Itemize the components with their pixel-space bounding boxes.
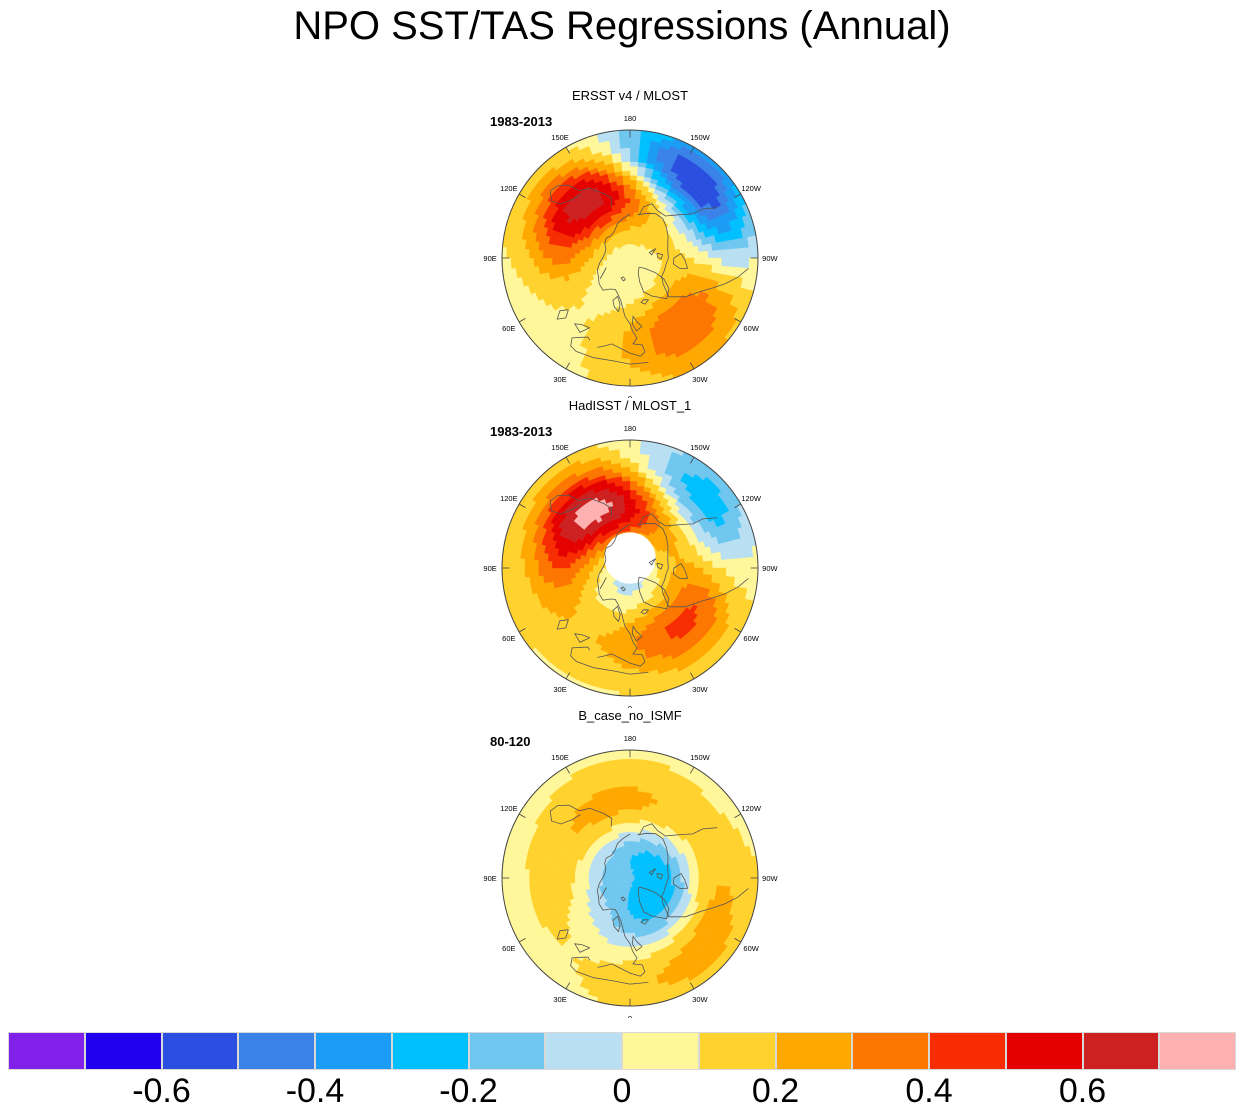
field-cell	[620, 449, 630, 454]
field-cell	[548, 878, 553, 885]
field-cell	[571, 263, 576, 269]
field-cell	[707, 871, 712, 878]
field-cell	[529, 559, 534, 568]
field-cell	[622, 782, 630, 787]
field-cell	[630, 522, 634, 527]
field-cell	[721, 258, 726, 266]
field-cell	[575, 563, 580, 568]
lon-label-150E: 150E	[551, 443, 569, 452]
field-cell	[622, 481, 630, 486]
figure-root: NPO SST/TAS Regressions (Annual) ERSST v…	[0, 0, 1244, 1116]
field-cell	[630, 472, 638, 477]
field-cell	[622, 655, 630, 660]
field-cell	[525, 878, 530, 887]
field-cell	[630, 495, 636, 500]
field-cell	[619, 135, 630, 140]
field-cell	[623, 335, 630, 340]
field-cell	[630, 518, 634, 523]
field-cell	[624, 194, 630, 199]
field-cell	[584, 564, 589, 568]
lon-label-60E: 60E	[502, 324, 515, 333]
field-cell	[630, 367, 640, 372]
field-cell	[726, 878, 731, 887]
field-cell	[739, 568, 744, 578]
field-cell	[626, 294, 630, 299]
field-cell	[516, 558, 521, 568]
field-cell	[630, 987, 640, 992]
field-cell	[630, 604, 634, 609]
field-cell	[630, 467, 639, 472]
field-cell	[621, 354, 630, 359]
field-cell	[703, 561, 708, 568]
field-cell	[507, 258, 512, 269]
field-cell	[639, 257, 644, 258]
field-cell	[620, 682, 630, 687]
field-cell	[575, 262, 580, 267]
field-cell	[552, 258, 557, 265]
field-cell	[629, 244, 630, 249]
field-cell	[630, 313, 635, 318]
field-cell	[621, 157, 630, 162]
field-cell	[630, 176, 637, 181]
field-cell	[552, 878, 557, 885]
field-cell	[516, 248, 521, 258]
field-cell	[571, 258, 576, 263]
field-cell	[644, 256, 649, 258]
field-cell	[548, 258, 553, 265]
field-cell	[730, 258, 735, 267]
lon-label-180: 180	[624, 114, 637, 123]
field-cell	[620, 144, 630, 149]
field-cell	[566, 252, 571, 258]
field-cell	[612, 258, 617, 260]
field-cell	[671, 250, 676, 254]
field-cell	[717, 878, 722, 886]
field-cell	[630, 764, 640, 769]
field-cell	[630, 965, 638, 970]
field-cell	[630, 171, 638, 176]
field-cell	[735, 868, 740, 878]
field-cell	[630, 800, 637, 805]
field-cell	[721, 568, 726, 576]
field-cell	[625, 308, 630, 313]
lon-label-90W: 90W	[762, 564, 778, 573]
field-cell	[648, 256, 653, 258]
field-cell	[703, 568, 708, 575]
field-cell	[552, 251, 557, 258]
field-cell	[634, 299, 638, 304]
field-cell	[626, 609, 630, 614]
field-cell	[566, 263, 571, 269]
field-cell	[744, 868, 749, 878]
field-cell	[630, 449, 640, 454]
field-cell	[557, 568, 562, 574]
field-cell	[630, 199, 635, 204]
field-cell	[630, 372, 640, 377]
field-cell	[698, 568, 703, 574]
field-cell	[630, 304, 634, 309]
field-cell	[620, 367, 630, 372]
field-cell	[635, 194, 641, 199]
field-cell	[619, 627, 625, 632]
field-cell	[744, 568, 749, 578]
field-cell	[630, 618, 635, 623]
field-cell	[739, 248, 744, 258]
field-cell	[622, 167, 630, 172]
map-panel-1: ERSST v4 / MLOST 1983-2013 180150E120E90…	[380, 88, 880, 398]
field-cell	[680, 248, 685, 253]
field-cell	[630, 167, 638, 172]
field-cell	[589, 571, 594, 575]
field-cell	[626, 604, 630, 609]
field-cell	[561, 258, 566, 264]
field-cell	[626, 208, 630, 213]
field-cell	[621, 518, 626, 523]
field-cell	[571, 253, 576, 258]
field-cell	[630, 686, 641, 691]
field-cell	[626, 527, 630, 532]
field-cell	[623, 331, 630, 336]
field-cell	[622, 162, 630, 167]
field-cell	[630, 290, 633, 295]
field-cell	[712, 878, 717, 886]
field-cell	[543, 560, 548, 568]
field-cell	[557, 258, 562, 264]
field-cell	[628, 240, 630, 245]
field-cell	[539, 258, 544, 266]
field-cell	[721, 560, 726, 568]
field-cell	[621, 208, 626, 213]
field-cell	[630, 281, 632, 286]
field-cell	[619, 194, 625, 199]
field-cell	[622, 345, 630, 350]
field-cell	[624, 504, 630, 509]
field-cell	[622, 340, 630, 345]
field-cell	[511, 878, 516, 888]
field-cell	[525, 258, 530, 267]
field-cell	[627, 226, 630, 231]
field-cell	[525, 568, 530, 577]
field-cell	[621, 664, 630, 669]
lon-label-60W: 60W	[743, 324, 759, 333]
field-cell	[621, 153, 630, 158]
field-cell	[539, 560, 544, 568]
field-cell	[622, 791, 630, 796]
map-2: 180150E120E90E60E30E030W60W90W120W150W	[380, 398, 880, 708]
field-cell	[630, 796, 637, 801]
field-cell	[730, 559, 735, 568]
field-cell	[623, 796, 630, 801]
field-cell	[730, 869, 735, 878]
field-cell	[630, 194, 636, 199]
field-cell	[630, 682, 640, 687]
field-cell	[619, 755, 630, 760]
field-cell	[707, 568, 712, 575]
field-cell	[622, 171, 630, 176]
field-cell	[557, 562, 562, 568]
field-cell	[561, 568, 566, 574]
lon-label-120E: 120E	[500, 184, 518, 193]
field-cell	[630, 951, 637, 956]
field-cell	[712, 568, 717, 576]
field-cell	[630, 791, 638, 796]
field-cell	[689, 263, 694, 269]
field-cell	[735, 878, 740, 888]
field-cell	[511, 868, 516, 878]
field-cell	[630, 445, 641, 450]
field-cell	[534, 258, 539, 266]
field-cell	[676, 258, 681, 262]
field-cell	[594, 571, 599, 575]
field-cell	[529, 878, 534, 887]
field-cell	[571, 573, 576, 579]
field-cell	[626, 614, 630, 619]
field-cell	[623, 951, 630, 956]
field-cell	[735, 558, 740, 568]
field-cell	[748, 557, 753, 568]
field-cell	[717, 258, 722, 266]
field-cell	[620, 372, 630, 377]
field-cell	[703, 251, 708, 258]
field-cell	[580, 254, 585, 258]
field-cell	[622, 650, 630, 655]
field-cell	[630, 623, 635, 628]
field-cell	[507, 557, 512, 568]
field-cell	[626, 304, 630, 309]
field-cell	[552, 561, 557, 568]
field-cell	[623, 955, 630, 960]
field-cell	[707, 258, 712, 265]
field-cell	[703, 878, 708, 885]
field-cell	[529, 258, 534, 267]
field-cell	[630, 600, 633, 605]
field-cell	[707, 878, 712, 885]
field-cell	[548, 568, 553, 575]
field-cell	[630, 591, 632, 596]
field-cell	[735, 568, 740, 578]
field-cell	[717, 560, 722, 568]
field-cell	[630, 162, 638, 167]
field-cell	[684, 248, 689, 254]
field-cell	[619, 504, 625, 509]
field-cell	[630, 299, 634, 304]
field-cell	[520, 258, 525, 268]
field-cell	[620, 764, 630, 769]
lon-label-90E: 90E	[483, 254, 496, 263]
field-cell	[689, 573, 694, 579]
field-cell	[730, 249, 735, 258]
field-cell	[623, 180, 630, 185]
field-cell	[520, 248, 525, 258]
field-cell	[630, 153, 639, 158]
field-cell	[739, 868, 744, 878]
lon-label-60E: 60E	[502, 634, 515, 643]
field-cell	[621, 463, 630, 468]
field-cell	[603, 258, 608, 260]
field-layer	[502, 750, 758, 1006]
field-cell	[630, 996, 641, 1001]
field-cell	[666, 254, 671, 258]
field-cell	[689, 252, 694, 258]
field-cell	[689, 568, 694, 574]
field-cell	[619, 686, 630, 691]
field-cell	[630, 217, 634, 222]
field-cell	[735, 248, 740, 258]
field-cell	[534, 878, 539, 886]
field-cell	[620, 759, 630, 764]
field-cell	[584, 568, 589, 572]
lon-label-120W: 120W	[741, 184, 762, 193]
field-cell	[620, 203, 625, 208]
lon-label-120E: 120E	[500, 494, 518, 503]
field-cell	[744, 558, 749, 568]
field-cell	[543, 878, 548, 886]
lon-label-30E: 30E	[553, 375, 566, 384]
field-cell	[630, 499, 636, 504]
field-cell	[630, 755, 641, 760]
field-cell	[634, 308, 639, 313]
field-cell	[626, 217, 630, 222]
field-cell	[507, 568, 512, 579]
field-cell	[589, 258, 594, 262]
field-cell	[520, 878, 525, 888]
field-cell	[748, 878, 753, 889]
field-cell	[675, 559, 680, 564]
field-cell	[534, 568, 539, 576]
field-cell	[689, 557, 694, 563]
field-cell	[516, 568, 521, 578]
field-cell	[630, 267, 631, 272]
field-cell	[630, 641, 637, 646]
field-cell	[717, 568, 722, 576]
field-cell	[548, 561, 553, 568]
field-cell	[566, 258, 571, 264]
field-cell	[507, 247, 512, 258]
field-cell	[726, 559, 731, 568]
field-cell	[698, 562, 703, 568]
field-cell	[580, 572, 585, 577]
field-cell	[730, 878, 735, 887]
field-cell	[630, 978, 639, 983]
field-cell	[703, 871, 708, 878]
field-cell	[748, 867, 753, 878]
field-cell	[622, 472, 630, 477]
field-cell	[630, 504, 636, 509]
field-cell	[516, 878, 521, 888]
field-cell	[529, 249, 534, 258]
field-cell	[703, 258, 708, 265]
field-cell	[566, 562, 571, 568]
field-cell	[630, 139, 640, 144]
field-cell	[566, 573, 571, 579]
lon-label-150W: 150W	[690, 443, 711, 452]
field-cell	[726, 568, 731, 577]
field-cell	[630, 345, 638, 350]
field-cell	[626, 518, 630, 523]
field-cell	[616, 258, 621, 259]
field-cell	[619, 376, 630, 381]
field-cell	[525, 249, 530, 258]
field-cell	[684, 558, 689, 564]
field-cell	[630, 376, 641, 381]
field-cell	[623, 490, 630, 495]
field-cell	[630, 595, 633, 600]
field-cell	[666, 251, 671, 255]
field-cell	[625, 513, 630, 518]
field-cell	[675, 249, 680, 254]
field-cell	[630, 992, 640, 997]
field-cell	[666, 561, 671, 565]
field-cell	[623, 176, 630, 181]
field-cell	[584, 262, 589, 266]
field-cell	[630, 208, 634, 213]
field-cell	[575, 258, 580, 263]
field-cell	[630, 614, 634, 619]
field-cell	[511, 568, 516, 578]
field-cell	[630, 148, 640, 153]
field-cell	[607, 258, 612, 260]
field-cell	[698, 258, 703, 264]
field-cell	[680, 558, 685, 563]
lon-label-120W: 120W	[741, 494, 762, 503]
field-cell	[630, 180, 637, 185]
field-cell	[676, 568, 681, 572]
field-cell	[633, 290, 637, 295]
field-cell	[561, 252, 566, 258]
lon-label-150W: 150W	[690, 133, 711, 142]
field-cell	[571, 563, 576, 568]
field-cell	[543, 870, 548, 878]
field-cell	[571, 568, 576, 573]
field-cell	[589, 261, 594, 265]
field-cell	[620, 768, 630, 773]
field-cell	[543, 568, 548, 576]
field-cell	[630, 189, 636, 194]
field-cell	[694, 252, 699, 258]
field-cell	[624, 326, 630, 331]
field-cell	[575, 253, 580, 258]
figure-title: NPO SST/TAS Regressions (Annual)	[0, 4, 1244, 49]
field-cell	[624, 222, 628, 227]
field-cell	[525, 559, 530, 568]
field-cell	[624, 495, 630, 500]
field-cell	[630, 773, 639, 778]
map-panel-3: B_case_no_ISMF 80-120 180150E120E90E60E3…	[380, 708, 880, 1018]
field-cell	[534, 250, 539, 258]
field-cell	[630, 203, 635, 208]
field-cell	[630, 285, 633, 290]
lon-label-30W: 30W	[692, 685, 708, 694]
field-cell	[630, 486, 637, 491]
field-cell	[516, 258, 521, 268]
field-cell	[624, 189, 630, 194]
field-cell	[689, 247, 694, 253]
field-cell	[516, 868, 521, 878]
field-cell	[726, 258, 731, 267]
field-cell	[619, 996, 630, 1001]
field-cell	[694, 258, 699, 264]
field-cell	[625, 509, 630, 514]
field-cell	[622, 960, 630, 965]
field-cell	[748, 568, 753, 579]
field-cell	[539, 250, 544, 258]
field-cell	[671, 560, 676, 564]
field-cell	[594, 261, 599, 265]
field-cell	[730, 568, 735, 577]
field-cell	[584, 572, 589, 576]
field-cell	[557, 252, 562, 258]
field-cell	[520, 558, 525, 568]
